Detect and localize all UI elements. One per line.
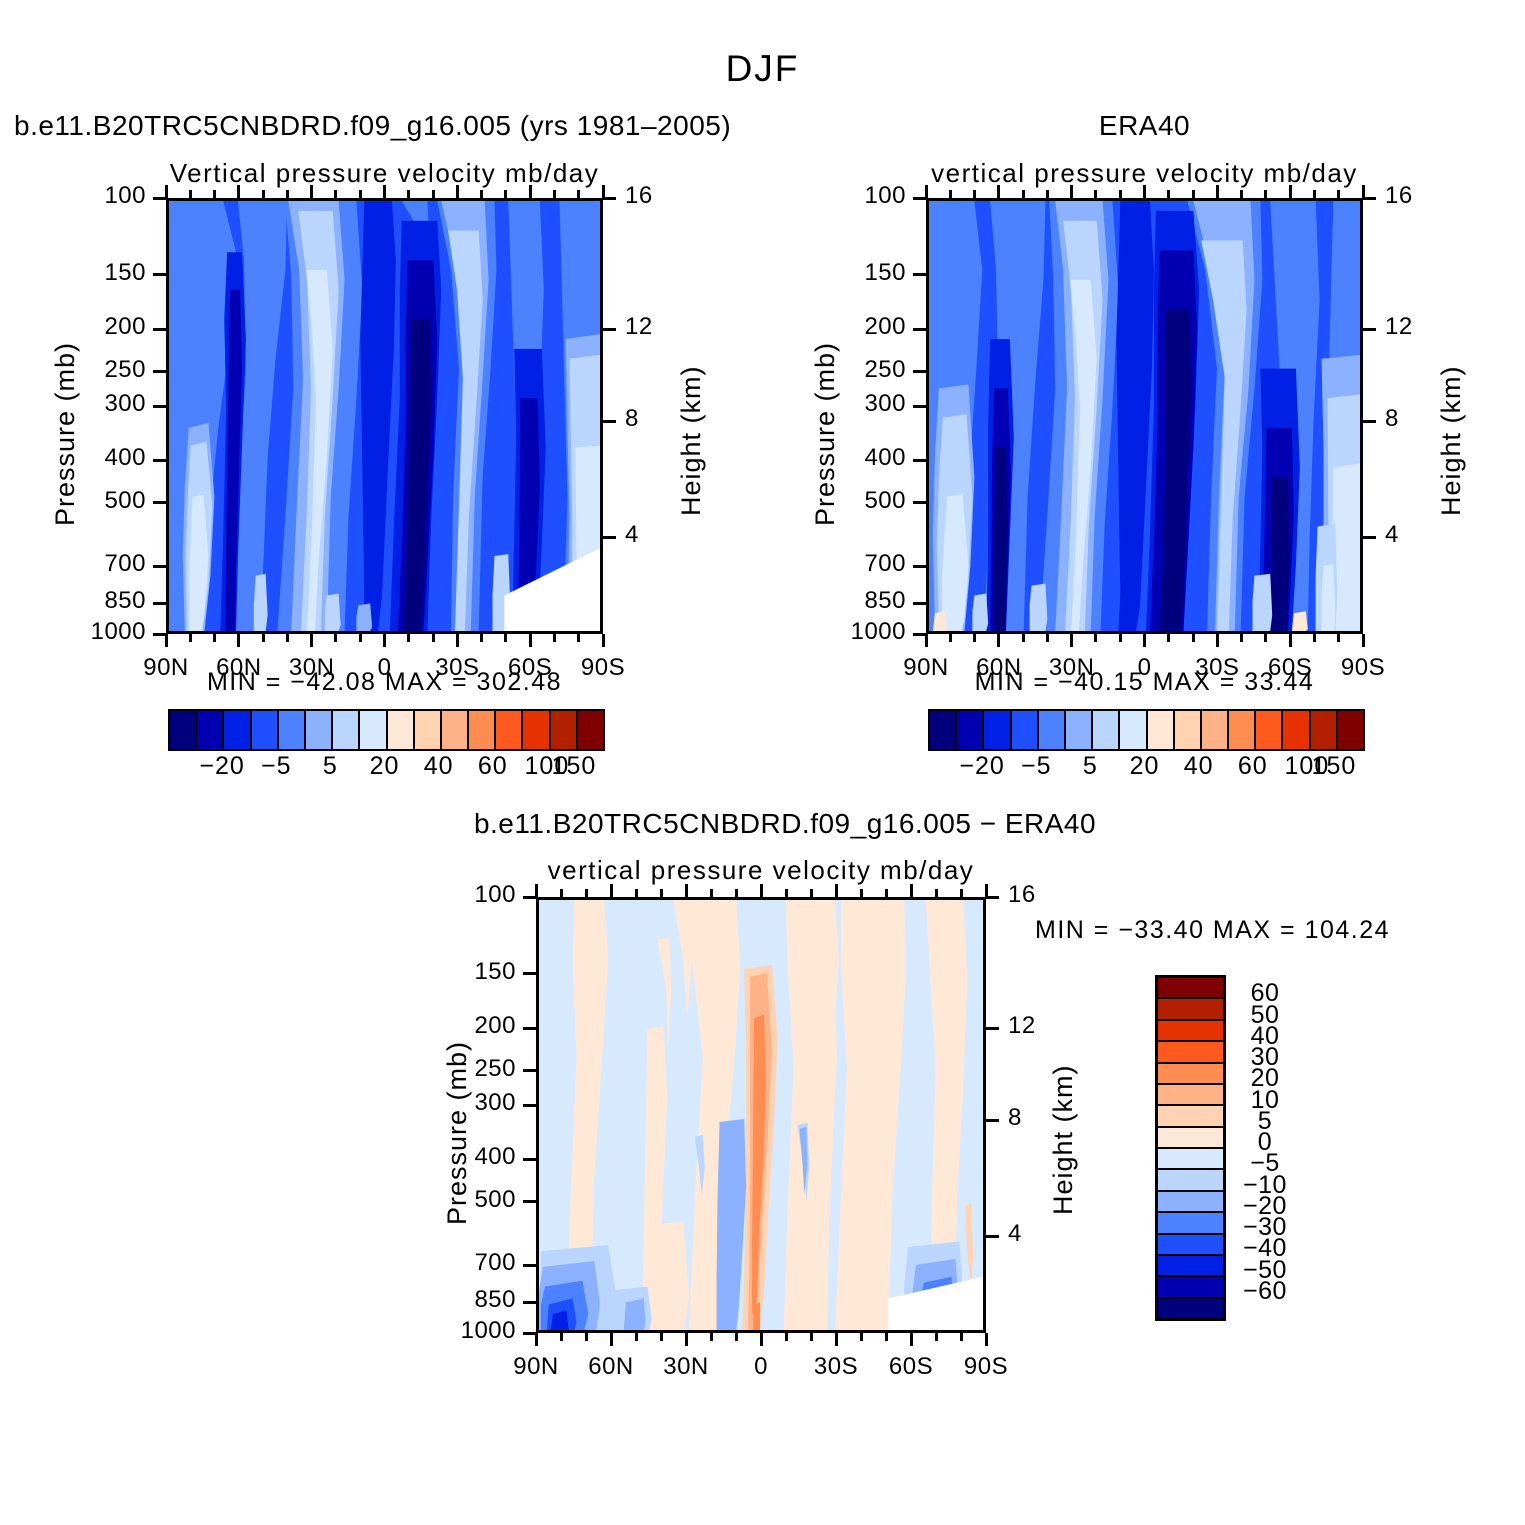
minmax-model: MIN = −42.08 MAX = 302.48 bbox=[166, 668, 603, 697]
y-tick-label: 300 bbox=[26, 390, 146, 418]
y2-tick-major bbox=[603, 420, 616, 423]
x-tick-major bbox=[610, 1333, 613, 1346]
y2-tick-label: 4 bbox=[1385, 521, 1445, 549]
x-tick-minor bbox=[189, 190, 192, 198]
x-tick-major bbox=[1216, 634, 1219, 647]
x-tick-minor bbox=[432, 190, 435, 198]
minmax-diff: MIN = −33.40 MAX = 104.24 bbox=[1035, 916, 1390, 945]
x-tick-minor bbox=[334, 634, 337, 642]
colorbar-tick-label: 20 bbox=[357, 752, 413, 781]
y-tick-label: 200 bbox=[26, 313, 146, 341]
x-tick-minor bbox=[262, 634, 265, 642]
y-tick-label: 100 bbox=[26, 182, 146, 210]
colorbar-cell bbox=[1120, 711, 1147, 749]
colorbar-cell bbox=[1158, 1128, 1223, 1149]
x-tick-minor bbox=[860, 889, 863, 897]
y2-tick-label: 4 bbox=[1008, 1220, 1068, 1248]
y-tick-label: 850 bbox=[786, 587, 906, 615]
x-tick-minor bbox=[885, 1333, 888, 1341]
x-tick-minor bbox=[785, 889, 788, 897]
x-tick-major bbox=[910, 884, 913, 897]
contour-field-diff bbox=[539, 900, 983, 1330]
y-tick-major bbox=[913, 328, 926, 331]
y-tick-major bbox=[153, 459, 166, 462]
y-tick-major bbox=[153, 370, 166, 373]
y2-tick-label: 16 bbox=[1385, 182, 1445, 210]
colorbar-cell bbox=[1158, 978, 1223, 999]
panel-diff-title: b.e11.B20TRC5CNBDRD.f09_g16.005 − ERA40 bbox=[440, 808, 1130, 840]
x-tick-minor bbox=[407, 190, 410, 198]
y-tick-major bbox=[153, 501, 166, 504]
y2-axis-label: Height (km) bbox=[1048, 1064, 1079, 1215]
colorbar-tick-label: 60 bbox=[465, 752, 521, 781]
x-tick-major bbox=[165, 634, 168, 647]
panel-model-title-text: b.e11.B20TRC5CNBDRD.f09_g16.005 (yrs 198… bbox=[14, 110, 731, 141]
y2-tick-major bbox=[1363, 420, 1376, 423]
x-tick-major bbox=[383, 185, 386, 198]
colorbar-cell bbox=[1283, 711, 1310, 749]
colorbar-cell bbox=[1158, 1021, 1223, 1042]
colorbar-model[interactable] bbox=[168, 709, 605, 751]
x-tick-minor bbox=[213, 634, 216, 642]
y2-tick-label: 16 bbox=[1008, 881, 1068, 909]
x-tick-minor bbox=[1240, 190, 1243, 198]
colorbar-cell bbox=[1338, 711, 1363, 749]
x-tick-minor bbox=[189, 634, 192, 642]
y2-tick-major bbox=[1363, 536, 1376, 539]
y-tick-label: 250 bbox=[786, 356, 906, 384]
colorbar-cell bbox=[1202, 711, 1229, 749]
colorbar-cell bbox=[1093, 711, 1120, 749]
colorbar-cell bbox=[1158, 1085, 1223, 1106]
y-tick-major bbox=[153, 197, 166, 200]
x-tick-major bbox=[237, 185, 240, 198]
y-tick-label: 300 bbox=[786, 390, 906, 418]
x-tick-minor bbox=[735, 1333, 738, 1341]
x-tick-minor bbox=[735, 889, 738, 897]
x-tick-major bbox=[685, 1333, 688, 1346]
y-tick-label: 500 bbox=[26, 487, 146, 515]
colorbar-tick-label: 150 bbox=[1306, 752, 1362, 781]
x-tick-major bbox=[1362, 634, 1365, 647]
plot-area-diff[interactable] bbox=[536, 897, 986, 1333]
x-tick-minor bbox=[973, 634, 976, 642]
x-tick-label: 90S bbox=[941, 1353, 1031, 1381]
x-tick-minor bbox=[710, 889, 713, 897]
colorbar-cell bbox=[170, 711, 197, 749]
y-tick-major bbox=[523, 1069, 536, 1072]
y-tick-major bbox=[153, 273, 166, 276]
x-tick-minor bbox=[1337, 190, 1340, 198]
x-tick-major bbox=[1289, 634, 1292, 647]
y2-tick-label: 12 bbox=[625, 313, 685, 341]
y-tick-major bbox=[153, 328, 166, 331]
x-tick-minor bbox=[359, 190, 362, 198]
season-title: DJF bbox=[0, 48, 1525, 90]
x-tick-major bbox=[685, 884, 688, 897]
y2-tick-label: 4 bbox=[625, 521, 685, 549]
y-tick-label: 850 bbox=[26, 587, 146, 615]
x-tick-major bbox=[1216, 185, 1219, 198]
y2-tick-major bbox=[603, 197, 616, 200]
y-tick-major bbox=[523, 1158, 536, 1161]
x-tick-major bbox=[535, 1333, 538, 1346]
y-tick-major bbox=[913, 633, 926, 636]
x-tick-major bbox=[835, 884, 838, 897]
y-tick-label: 100 bbox=[786, 182, 906, 210]
colorbar-cell bbox=[469, 711, 496, 749]
colorbar-cell bbox=[957, 711, 984, 749]
colorbar-cell bbox=[333, 711, 360, 749]
y2-tick-label: 16 bbox=[625, 182, 685, 210]
y-tick-major bbox=[913, 405, 926, 408]
colorbar-model-labels: −20−55204060100150 bbox=[168, 752, 601, 786]
x-tick-minor bbox=[973, 190, 976, 198]
x-tick-minor bbox=[1264, 634, 1267, 642]
y-tick-major bbox=[523, 1027, 536, 1030]
y2-tick-major bbox=[1363, 197, 1376, 200]
colorbar-cell bbox=[1158, 1256, 1223, 1277]
x-tick-minor bbox=[810, 1333, 813, 1341]
x-tick-major bbox=[1070, 185, 1073, 198]
colorbar-cell bbox=[360, 711, 387, 749]
colorbar-cell bbox=[1012, 711, 1039, 749]
colorbar-cell bbox=[578, 711, 603, 749]
colorbar-tick-label: 150 bbox=[546, 752, 602, 781]
x-tick-minor bbox=[286, 190, 289, 198]
x-tick-minor bbox=[860, 1333, 863, 1341]
x-tick-major bbox=[456, 634, 459, 647]
panel-model-title: b.e11.B20TRC5CNBDRD.f09_g16.005 (yrs 198… bbox=[14, 110, 731, 142]
x-tick-major bbox=[602, 634, 605, 647]
y-tick-label: 400 bbox=[26, 444, 146, 472]
y-tick-major bbox=[913, 273, 926, 276]
x-tick-major bbox=[529, 634, 532, 647]
y-tick-major bbox=[913, 370, 926, 373]
x-tick-minor bbox=[553, 634, 556, 642]
x-tick-minor bbox=[1337, 634, 1340, 642]
x-tick-minor bbox=[262, 190, 265, 198]
x-tick-minor bbox=[1094, 634, 1097, 642]
x-tick-major bbox=[456, 185, 459, 198]
y2-tick-major bbox=[986, 896, 999, 899]
y2-tick-major bbox=[986, 1027, 999, 1030]
x-tick-minor bbox=[660, 1333, 663, 1341]
y-tick-major bbox=[913, 602, 926, 605]
x-tick-major bbox=[910, 1333, 913, 1346]
colorbar-cell bbox=[1311, 711, 1338, 749]
colorbar-cell bbox=[224, 711, 251, 749]
colorbar-cell bbox=[1158, 1299, 1223, 1318]
y-tick-major bbox=[913, 197, 926, 200]
y-tick-label: 150 bbox=[786, 259, 906, 287]
x-tick-minor bbox=[1022, 634, 1025, 642]
x-tick-minor bbox=[935, 889, 938, 897]
x-tick-minor bbox=[560, 889, 563, 897]
y-tick-label: 700 bbox=[26, 550, 146, 578]
colorbar-cell bbox=[1256, 711, 1283, 749]
x-tick-minor bbox=[710, 1333, 713, 1341]
x-tick-minor bbox=[359, 634, 362, 642]
x-tick-minor bbox=[949, 634, 952, 642]
x-tick-minor bbox=[577, 190, 580, 198]
colorbar-cell bbox=[930, 711, 957, 749]
contour-field-obs bbox=[929, 201, 1360, 631]
colorbar-cell bbox=[1158, 1064, 1223, 1085]
x-tick-minor bbox=[1313, 634, 1316, 642]
x-tick-minor bbox=[1119, 634, 1122, 642]
x-tick-minor bbox=[960, 889, 963, 897]
x-tick-minor bbox=[1119, 190, 1122, 198]
colorbar-cell bbox=[1066, 711, 1093, 749]
x-tick-major bbox=[760, 884, 763, 897]
colorbar-diff-labels: 60504030201050−5−10−20−30−40−50−60 bbox=[1228, 975, 1308, 1315]
colorbar-cell bbox=[1158, 999, 1223, 1020]
colorbar-tick-label: −5 bbox=[248, 752, 304, 781]
y-tick-label: 500 bbox=[786, 487, 906, 515]
colorbar-cell bbox=[1148, 711, 1175, 749]
panel-obs-title: ERA40 bbox=[926, 110, 1363, 142]
x-tick-major bbox=[310, 634, 313, 647]
x-tick-major bbox=[1289, 185, 1292, 198]
colorbar-tick-label: −20 bbox=[954, 752, 1010, 781]
y2-axis-label: Height (km) bbox=[1436, 365, 1467, 516]
x-tick-minor bbox=[286, 634, 289, 642]
x-tick-major bbox=[925, 634, 928, 647]
x-tick-minor bbox=[1313, 190, 1316, 198]
colorbar-tick-label: 60 bbox=[1225, 752, 1281, 781]
x-tick-major bbox=[237, 634, 240, 647]
minmax-obs: MIN = −40.15 MAX = 33.44 bbox=[926, 668, 1363, 697]
x-tick-minor bbox=[1094, 190, 1097, 198]
y-tick-major bbox=[523, 1264, 536, 1267]
y-tick-label: 200 bbox=[786, 313, 906, 341]
x-tick-minor bbox=[1240, 634, 1243, 642]
colorbar-tick-label: 40 bbox=[1171, 752, 1227, 781]
colorbar-tick-label: −60 bbox=[1230, 1277, 1300, 1306]
y-tick-major bbox=[523, 1200, 536, 1203]
y-tick-major bbox=[913, 501, 926, 504]
x-tick-minor bbox=[213, 190, 216, 198]
colorbar-cell bbox=[442, 711, 469, 749]
y-tick-label: 150 bbox=[26, 259, 146, 287]
x-tick-major bbox=[997, 185, 1000, 198]
colorbar-cell bbox=[1158, 1192, 1223, 1213]
x-tick-major bbox=[610, 884, 613, 897]
x-tick-minor bbox=[1192, 634, 1195, 642]
colorbar-cell bbox=[551, 711, 578, 749]
y-tick-label: 250 bbox=[26, 356, 146, 384]
y-tick-label: 400 bbox=[786, 444, 906, 472]
y-tick-label: 1000 bbox=[26, 618, 146, 646]
x-tick-minor bbox=[577, 634, 580, 642]
y2-tick-major bbox=[986, 1235, 999, 1238]
x-tick-major bbox=[310, 185, 313, 198]
panel-diff-subtitle: vertical pressure velocity mb/day bbox=[536, 855, 986, 886]
colorbar-cell bbox=[1158, 1042, 1223, 1063]
x-tick-minor bbox=[1192, 190, 1195, 198]
colorbar-tick-label: 5 bbox=[302, 752, 358, 781]
x-tick-minor bbox=[1264, 190, 1267, 198]
y-tick-major bbox=[523, 896, 536, 899]
colorbar-cell bbox=[197, 711, 224, 749]
y-tick-major bbox=[913, 459, 926, 462]
x-tick-major bbox=[985, 1333, 988, 1346]
plot-area-model[interactable] bbox=[166, 198, 603, 634]
x-tick-minor bbox=[585, 1333, 588, 1341]
colorbar-cell bbox=[523, 711, 550, 749]
x-tick-major bbox=[997, 634, 1000, 647]
colorbar-tick-label: 40 bbox=[411, 752, 467, 781]
y-tick-major bbox=[153, 405, 166, 408]
colorbar-cell bbox=[1158, 1213, 1223, 1234]
colorbar-cell bbox=[1158, 1235, 1223, 1256]
x-tick-minor bbox=[635, 1333, 638, 1341]
y-tick-label: 200 bbox=[396, 1012, 516, 1040]
x-tick-minor bbox=[1167, 190, 1170, 198]
x-tick-minor bbox=[885, 889, 888, 897]
y-tick-major bbox=[913, 565, 926, 568]
x-tick-minor bbox=[504, 634, 507, 642]
x-tick-minor bbox=[785, 1333, 788, 1341]
colorbar-cell bbox=[1158, 1170, 1223, 1191]
colorbar-cell bbox=[1039, 711, 1066, 749]
y-tick-major bbox=[153, 565, 166, 568]
x-tick-major bbox=[1070, 634, 1073, 647]
x-tick-major bbox=[529, 185, 532, 198]
y-tick-label: 1000 bbox=[786, 618, 906, 646]
colorbar-cell bbox=[1175, 711, 1202, 749]
colorbar-obs-labels: −20−55204060100150 bbox=[928, 752, 1361, 786]
y-tick-label: 150 bbox=[396, 958, 516, 986]
x-tick-minor bbox=[334, 190, 337, 198]
plot-area-obs[interactable] bbox=[926, 198, 1363, 634]
y-tick-major bbox=[153, 633, 166, 636]
colorbar-cell bbox=[1158, 1106, 1223, 1127]
colorbar-cell bbox=[984, 711, 1011, 749]
y2-tick-major bbox=[603, 536, 616, 539]
y-tick-label: 1000 bbox=[396, 1317, 516, 1345]
colorbar-tick-label: −20 bbox=[194, 752, 250, 781]
x-tick-major bbox=[1143, 185, 1146, 198]
y-tick-major bbox=[523, 1104, 536, 1107]
colorbar-tick-label: −5 bbox=[1008, 752, 1064, 781]
colorbar-cell bbox=[252, 711, 279, 749]
colorbar-cell bbox=[415, 711, 442, 749]
y-tick-major bbox=[153, 602, 166, 605]
y2-tick-label: 12 bbox=[1385, 313, 1445, 341]
x-tick-minor bbox=[480, 190, 483, 198]
y2-tick-major bbox=[1363, 328, 1376, 331]
x-tick-major bbox=[835, 1333, 838, 1346]
x-tick-minor bbox=[560, 1333, 563, 1341]
colorbar-cell bbox=[496, 711, 523, 749]
x-tick-minor bbox=[935, 1333, 938, 1341]
colorbar-tick-label: 20 bbox=[1117, 752, 1173, 781]
x-tick-minor bbox=[1046, 190, 1049, 198]
x-tick-minor bbox=[1046, 634, 1049, 642]
x-tick-major bbox=[760, 1333, 763, 1346]
x-tick-minor bbox=[432, 634, 435, 642]
x-tick-major bbox=[1143, 634, 1146, 647]
y-axis-label: Pressure (mb) bbox=[810, 342, 841, 526]
y-axis-label: Pressure (mb) bbox=[50, 342, 81, 526]
y-tick-label: 700 bbox=[396, 1249, 516, 1277]
contour-field-model bbox=[169, 201, 600, 631]
y-tick-label: 700 bbox=[786, 550, 906, 578]
x-tick-minor bbox=[504, 190, 507, 198]
colorbar-tick-label: 5 bbox=[1062, 752, 1118, 781]
colorbar-obs[interactable] bbox=[928, 709, 1365, 751]
y2-tick-major bbox=[986, 1119, 999, 1122]
x-tick-minor bbox=[1167, 634, 1170, 642]
colorbar-cell bbox=[388, 711, 415, 749]
y-tick-major bbox=[523, 1332, 536, 1335]
x-tick-minor bbox=[810, 889, 813, 897]
y-axis-label: Pressure (mb) bbox=[442, 1041, 473, 1225]
colorbar-cell bbox=[279, 711, 306, 749]
x-tick-minor bbox=[585, 889, 588, 897]
colorbar-cell bbox=[306, 711, 333, 749]
y-tick-label: 100 bbox=[396, 881, 516, 909]
x-tick-minor bbox=[949, 190, 952, 198]
x-tick-minor bbox=[960, 1333, 963, 1341]
y2-tick-label: 12 bbox=[1008, 1012, 1068, 1040]
y-tick-label: 850 bbox=[396, 1286, 516, 1314]
x-tick-minor bbox=[1022, 190, 1025, 198]
x-tick-minor bbox=[660, 889, 663, 897]
x-tick-minor bbox=[635, 889, 638, 897]
colorbar-cell bbox=[1158, 1277, 1223, 1298]
x-tick-minor bbox=[480, 634, 483, 642]
colorbar-cell bbox=[1158, 1149, 1223, 1170]
y2-axis-label: Height (km) bbox=[676, 365, 707, 516]
colorbar-diff[interactable] bbox=[1155, 975, 1226, 1321]
x-tick-minor bbox=[553, 190, 556, 198]
x-tick-minor bbox=[407, 634, 410, 642]
y-tick-major bbox=[523, 1301, 536, 1304]
colorbar-cell bbox=[1229, 711, 1256, 749]
x-tick-major bbox=[383, 634, 386, 647]
y-tick-major bbox=[523, 972, 536, 975]
y2-tick-major bbox=[603, 328, 616, 331]
